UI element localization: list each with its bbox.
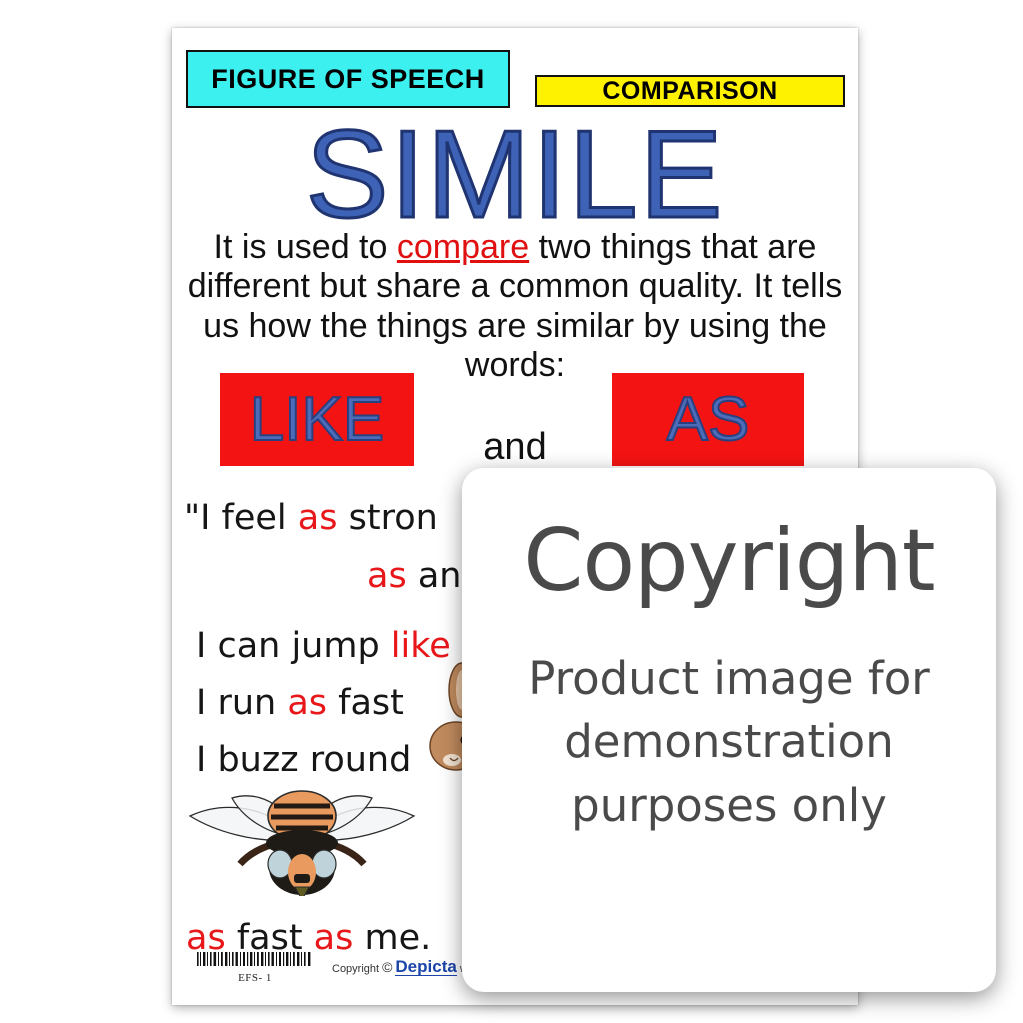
page-title: SIMILE <box>172 113 858 237</box>
keyword-box-like: LIKE <box>220 373 414 466</box>
example-text-run: as <box>298 498 338 538</box>
example-text-run: stron <box>337 498 437 538</box>
example-text-run: I buzz round <box>196 740 411 780</box>
copyright-overlay-card: Copyright Product image for demonstratio… <box>462 468 996 992</box>
copyright-word: Copyright <box>332 963 379 975</box>
definition-before: It is used to <box>214 228 397 266</box>
keyword-box-as: AS <box>612 373 804 466</box>
example-text-run: fast <box>327 683 404 723</box>
example-sentence: as an <box>367 556 461 596</box>
example-sentence: I can jump like <box>196 626 451 666</box>
example-sentence: I run as fast <box>196 683 404 723</box>
definition-paragraph: It is used to compare two things that ar… <box>178 228 852 386</box>
example-text-run: "I feel <box>184 498 298 538</box>
copyright-overlay-title: Copyright <box>523 514 934 609</box>
example-text-run: I run <box>196 683 287 723</box>
copyright-symbol-icon: © <box>382 959 392 975</box>
bee-illustration <box>182 786 422 896</box>
barcode-block: EFS- 1 <box>196 952 314 984</box>
screenshot-root: FIGURE OF SPEECH COMPARISON SIMILE It is… <box>0 0 1023 1023</box>
barcode-icon <box>196 952 314 966</box>
example-sentence: I buzz round <box>196 740 411 780</box>
copyright-overlay-subtitle: Product image for demonstration purposes… <box>462 647 996 839</box>
example-text-run: an <box>407 556 462 596</box>
example-text-run: as <box>367 556 407 596</box>
definition-highlight: compare <box>397 228 529 266</box>
example-text-run: as <box>287 683 327 723</box>
example-text-run: I can jump <box>196 626 391 666</box>
brand-name: Depicta <box>395 958 456 976</box>
keyword-conjunction: and <box>425 426 605 469</box>
example-sentence: "I feel as stron <box>184 498 438 538</box>
comparison-chip: COMPARISON <box>535 75 845 107</box>
barcode-label: EFS- 1 <box>196 972 314 984</box>
figure-of-speech-chip: FIGURE OF SPEECH <box>186 50 510 108</box>
